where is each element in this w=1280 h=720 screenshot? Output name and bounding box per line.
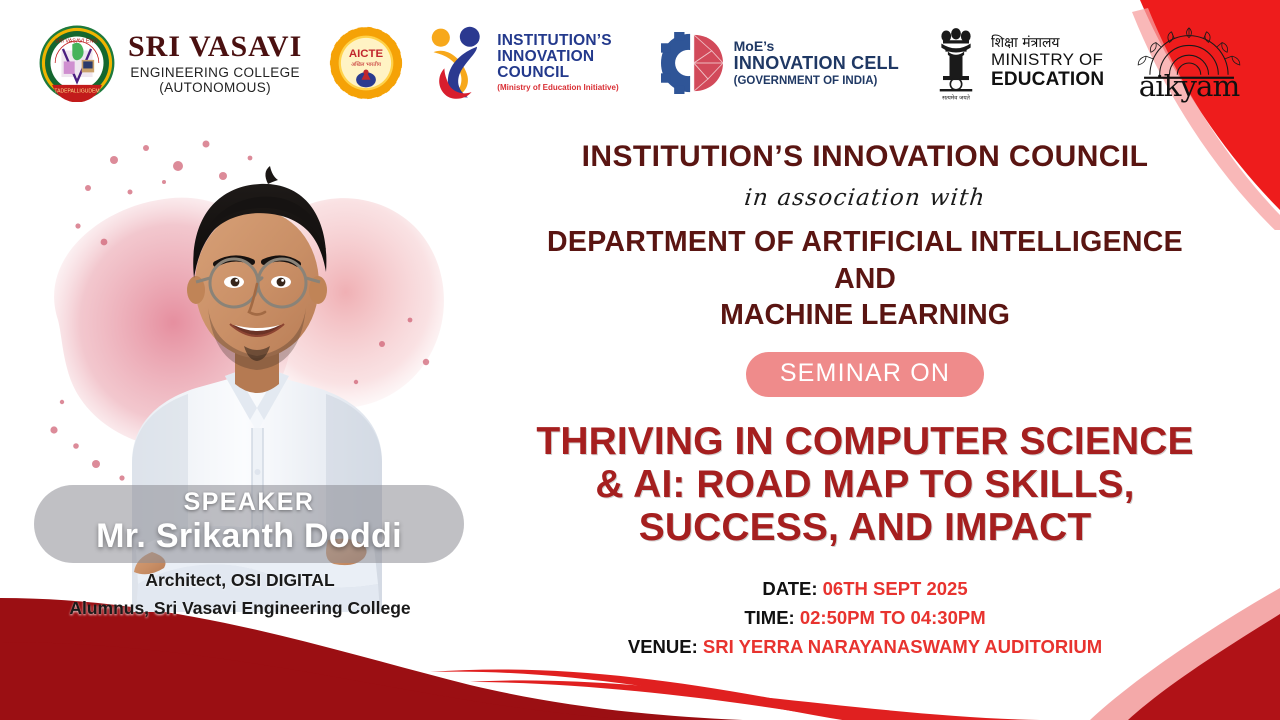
venue-value: SRI YERRA NARAYANASWAMY AUDITORIUM: [703, 636, 1102, 657]
svg-text:aikyam: aikyam: [1139, 69, 1240, 103]
seminar-title-line1: THRIVING IN COMPUTER SCIENCE: [470, 421, 1260, 464]
iic-mark-icon: [426, 25, 490, 101]
seminar-title-line3: SUCCESS, AND IMPACT: [470, 507, 1260, 550]
logo-iic: INSTITUTION’S INNOVATION COUNCIL (Minist…: [426, 25, 618, 101]
poster-content: INSTITUTION’S INNOVATION COUNCIL in asso…: [470, 126, 1260, 720]
svg-text:TADEPALLIGUDEM: TADEPALLIGUDEM: [54, 89, 99, 95]
iic-line1: INSTITUTION’S: [497, 33, 618, 49]
association-text: in association with: [469, 185, 1262, 211]
speaker-alumni: Alumnus, Sri Vasavi Engineering College: [0, 598, 480, 619]
speaker-name: Mr. Srikanth Doddi: [96, 518, 402, 555]
date-value: 06TH SEPT 2025: [823, 578, 968, 599]
moe-innovation-cell-mark-icon: [659, 32, 725, 94]
detail-time: TIME: 02:50PM TO 04:30PM: [470, 604, 1260, 633]
speaker-role: Architect, OSI DIGITAL: [0, 570, 480, 591]
department-line3: MACHINE LEARNING: [470, 299, 1260, 332]
svg-text:AICTE: AICTE: [349, 48, 384, 60]
moe-ic-line1: MoE’s: [734, 39, 899, 54]
department-and: AND: [470, 263, 1260, 296]
sri-vasavi-subtitle: ENGINEERING COLLEGE: [128, 66, 302, 80]
aikyam-logo-icon: aikyam: [1130, 20, 1248, 106]
sri-vasavi-title: SRI VASAVI: [128, 31, 302, 63]
detail-date: DATE: 06TH SEPT 2025: [470, 575, 1260, 604]
svg-text:अखिल भारतीय: अखिल भारतीय: [351, 61, 382, 68]
sri-vasavi-emblem-icon: SRI VASAVI ENG. TADEPALLIGUDEM: [38, 24, 116, 102]
seminar-title-line2: & AI: ROAD MAP TO SKILLS,: [470, 464, 1260, 507]
detail-venue: VENUE: SRI YERRA NARAYANASWAMY AUDITORIU…: [470, 633, 1260, 662]
moe-ic-line2: INNOVATION CELL: [734, 54, 899, 73]
organizer-title: INSTITUTION’S INNOVATION COUNCIL: [470, 140, 1260, 173]
header-logo-strip: SRI VASAVI ENG. TADEPALLIGUDEM SRI VASAV…: [0, 0, 1280, 126]
moe-hindi: शिक्षा मंत्रालय: [991, 36, 1104, 51]
time-value: 02:50PM TO 04:30PM: [800, 607, 986, 628]
seminar-on-badge: SEMINAR ON: [746, 352, 984, 397]
event-details: DATE: 06TH SEPT 2025 TIME: 02:50PM TO 04…: [470, 575, 1260, 661]
sri-vasavi-autonomous: (AUTONOMOUS): [128, 81, 302, 95]
department-line1: DEPARTMENT OF ARTIFICIAL INTELLIGENCE: [470, 225, 1260, 260]
time-label: TIME:: [744, 607, 794, 628]
svg-text:सत्यमेव जयते: सत्यमेव जयते: [942, 94, 971, 102]
aicte-logo-icon: AICTE अखिल भारतीय: [328, 25, 404, 101]
venue-label: VENUE:: [628, 636, 698, 657]
moe-ic-line3: (GOVERNMENT OF INDIA): [734, 75, 899, 87]
logo-moe-innovation-cell: MoE’s INNOVATION CELL (GOVERNMENT OF IND…: [659, 32, 899, 94]
logo-sri-vasavi: SRI VASAVI ENG. TADEPALLIGUDEM SRI VASAV…: [38, 24, 302, 102]
moe-line1: MINISTRY OF: [991, 51, 1104, 70]
event-poster: SRI VASAVI ENG. TADEPALLIGUDEM SRI VASAV…: [0, 0, 1280, 720]
iic-line2: INNOVATION: [497, 49, 618, 65]
iic-subtitle: (Ministry of Education Initiative): [497, 84, 618, 92]
speaker-panel: SPEAKER Mr. Srikanth Doddi Architect, OS…: [0, 120, 480, 680]
speaker-name-band: SPEAKER Mr. Srikanth Doddi: [34, 485, 464, 563]
ashoka-emblem-icon: सत्यमेव जयते: [931, 24, 981, 102]
date-label: DATE:: [762, 578, 817, 599]
seminar-title: THRIVING IN COMPUTER SCIENCE & AI: ROAD …: [470, 421, 1260, 550]
speaker-label: SPEAKER: [184, 490, 315, 515]
iic-line3: COUNCIL: [497, 65, 618, 81]
logo-ministry-of-education: सत्यमेव जयते शिक्षा मंत्रालय MINISTRY OF…: [931, 24, 1104, 102]
moe-line2: EDUCATION: [991, 70, 1104, 91]
